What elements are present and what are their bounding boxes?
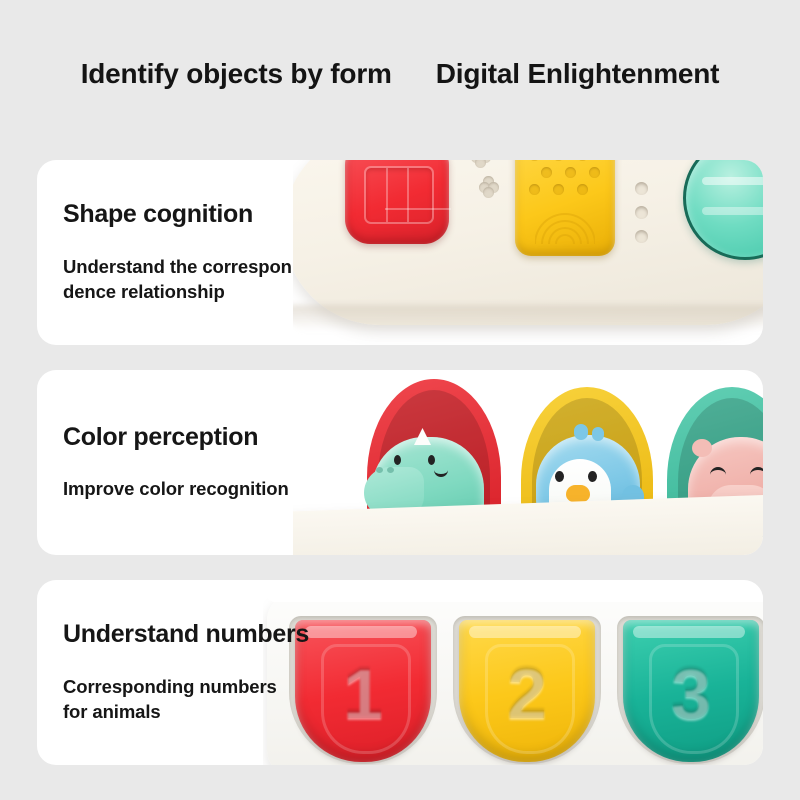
flower-emboss-2 bbox=[479, 176, 499, 196]
header-title-digital: Digital Enlightenment bbox=[436, 58, 720, 90]
card-text-block: Understand numbers Corresponding numbers… bbox=[63, 580, 333, 765]
dino-eye-left bbox=[394, 455, 401, 465]
card-description: Understand the correspon dence relations… bbox=[63, 255, 313, 305]
card-title: Color perception bbox=[63, 423, 333, 452]
penguin-eye-left bbox=[555, 471, 564, 482]
dots-icon bbox=[529, 160, 601, 196]
pop-up-animals-photo bbox=[293, 370, 763, 555]
card-description-line-1: Understand the correspon bbox=[63, 255, 313, 280]
number-slot-2[interactable]: 2 bbox=[453, 616, 601, 764]
product-feature-infographic: Identify objects by form Digital Enlight… bbox=[0, 0, 800, 800]
yellow-square-button[interactable] bbox=[515, 160, 615, 256]
penguin-beak-icon bbox=[566, 485, 590, 502]
card-title: Shape cognition bbox=[63, 200, 333, 229]
card-description: Corresponding numbers for animals bbox=[63, 675, 313, 725]
feature-card-shape-cognition: Shape cognition Understand the correspon… bbox=[37, 160, 763, 345]
card-description-line-2: dence relationship bbox=[63, 280, 313, 305]
teal-round-button[interactable] bbox=[683, 160, 763, 260]
flower-emboss-1 bbox=[471, 160, 491, 166]
card-description-line-1: Corresponding numbers bbox=[63, 675, 313, 700]
hippo-ear-icon bbox=[692, 439, 712, 457]
card-description: Improve color recognition bbox=[63, 477, 313, 502]
toy-body bbox=[293, 160, 763, 325]
red-square-button[interactable] bbox=[345, 160, 449, 244]
card-description-line-1: Improve color recognition bbox=[63, 477, 313, 502]
number-panel: 1 2 3 bbox=[267, 594, 763, 765]
grid-window-icon bbox=[364, 166, 434, 224]
hippo-eye-left bbox=[710, 467, 726, 479]
dino-eye-right bbox=[428, 455, 435, 465]
rainbow-arcs-icon bbox=[535, 210, 595, 244]
header-title-form: Identify objects by form bbox=[81, 58, 392, 90]
card-text-block: Color perception Improve color recogniti… bbox=[63, 370, 333, 555]
feature-card-color-perception: Color perception Improve color recogniti… bbox=[37, 370, 763, 555]
penguin-tuft-icon bbox=[574, 424, 588, 440]
number-slider-2[interactable]: 2 bbox=[459, 620, 595, 762]
header: Identify objects by form Digital Enlight… bbox=[0, 0, 800, 148]
hippo-eye-right bbox=[750, 467, 763, 479]
number-slot-3[interactable]: 3 bbox=[617, 616, 763, 764]
card-description-line-2: for animals bbox=[63, 700, 313, 725]
numbered-sliders-photo: 1 2 3 bbox=[263, 580, 763, 765]
penguin-eye-right bbox=[588, 471, 597, 482]
card-text-block: Shape cognition Understand the correspon… bbox=[63, 160, 333, 345]
number-slider-3[interactable]: 3 bbox=[623, 620, 759, 762]
feature-card-understand-numbers: 1 2 3 bbox=[37, 580, 763, 765]
card-title: Understand numbers bbox=[63, 620, 333, 649]
panel-lip bbox=[267, 586, 763, 602]
three-dots-emboss bbox=[635, 182, 648, 254]
shape-sorter-buttons-photo bbox=[293, 160, 763, 345]
dino-mouth bbox=[434, 467, 448, 477]
